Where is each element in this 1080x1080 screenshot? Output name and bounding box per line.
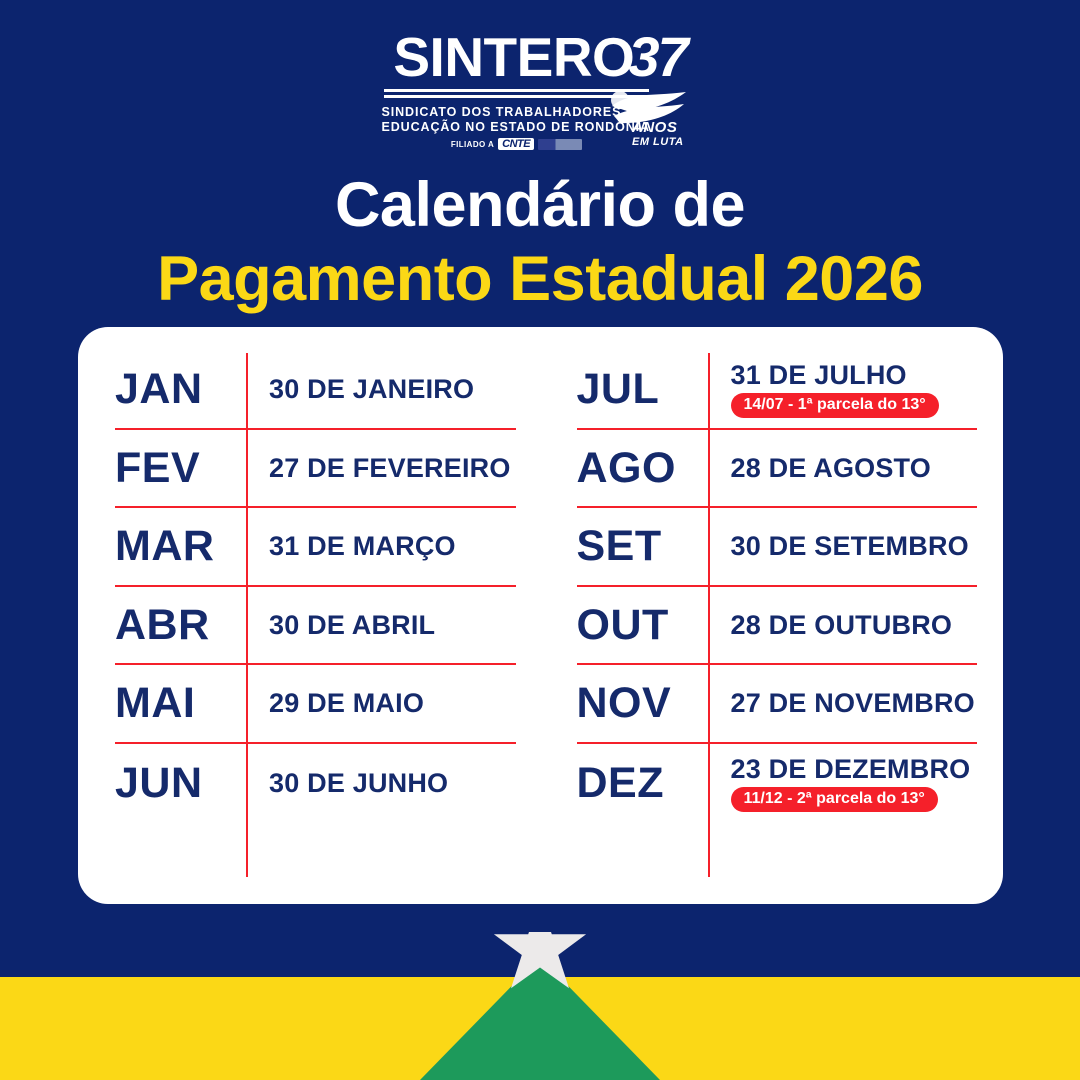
calendar-row: OUT28 DE OUTUBRO (577, 587, 978, 666)
logo-rules (384, 89, 649, 101)
month-detail: 31 DE JULHO14/07 - 1ª parcela do 13° (709, 360, 978, 418)
month-abbreviation: DEZ (577, 760, 709, 806)
calendar-row: SET30 DE SETEMBRO (577, 508, 978, 587)
calendar-row: AGO28 DE AGOSTO (577, 430, 978, 509)
calendar-card: JAN30 DE JANEIROFEV27 DE FEVEREIROMAR31 … (78, 327, 1003, 904)
logo-anniversary-label: ANOS EM LUTA (632, 122, 684, 148)
calendar-column-right: JUL31 DE JULHO14/07 - 1ª parcela do 13°A… (541, 327, 1004, 904)
calendar-row: FEV27 DE FEVEREIRO (115, 430, 516, 509)
month-detail: 23 DE DEZEMBRO11/12 - 2ª parcela do 13° (709, 754, 978, 812)
calendar-row: JUN30 DE JUNHO (115, 744, 516, 823)
sintero-logo: SINTERO 37 ANOS EM LUTA SINDICATO DOS TR… (0, 30, 1080, 150)
payment-date: 31 DE MARÇO (269, 531, 516, 561)
title-line-2: Pagamento Estadual 2026 (0, 242, 1080, 316)
payment-date: 30 DE SETEMBRO (731, 531, 978, 561)
logo-anos-line1: ANOS (632, 122, 684, 134)
logo-anos-line2: EM LUTA (632, 136, 684, 148)
poster-canvas: SINTERO 37 ANOS EM LUTA SINDICATO DOS TR… (0, 0, 1080, 1080)
month-abbreviation: JUL (577, 366, 709, 412)
calendar-row: MAR31 DE MARÇO (115, 508, 516, 587)
payment-date: 30 DE JANEIRO (269, 374, 516, 404)
logo-subtitle: SINDICATO DOS TRABALHADORES EM EDUCAÇÃO … (382, 105, 652, 134)
payment-date: 30 DE JUNHO (269, 768, 516, 798)
month-abbreviation: MAR (115, 523, 247, 569)
logo-affiliation: FILIADO A CNTE (382, 138, 652, 150)
payment-date: 28 DE AGOSTO (731, 453, 978, 483)
month-detail: 29 DE MAIO (247, 688, 516, 718)
month-detail: 30 DE JUNHO (247, 768, 516, 798)
calendar-row: JAN30 DE JANEIRO (115, 351, 516, 430)
payment-date: 29 DE MAIO (269, 688, 516, 718)
title-line-1: Calendário de (0, 168, 1080, 242)
month-detail: 31 DE MARÇO (247, 531, 516, 561)
payment-date: 27 DE FEVEREIRO (269, 453, 516, 483)
calendar-row: DEZ23 DE DEZEMBRO11/12 - 2ª parcela do 1… (577, 744, 978, 823)
calendar-row: NOV27 DE NOVEMBRO (577, 665, 978, 744)
month-abbreviation: FEV (115, 445, 247, 491)
installment-badge: 14/07 - 1ª parcela do 13° (731, 393, 939, 418)
logo-wordmark-row: SINTERO 37 (393, 30, 686, 87)
cnte-logo: CNTE (498, 138, 534, 150)
month-abbreviation: NOV (577, 680, 709, 726)
calendar-row: JUL31 DE JULHO14/07 - 1ª parcela do 13° (577, 351, 978, 430)
calendar-column-left: JAN30 DE JANEIROFEV27 DE FEVEREIROMAR31 … (78, 327, 541, 904)
affiliation-label: FILIADO A (451, 140, 494, 149)
payment-date: 23 DE DEZEMBRO (731, 754, 978, 784)
month-detail: 30 DE ABRIL (247, 610, 516, 640)
logo-wordmark: SINTERO (393, 30, 634, 84)
logo-subtitle-line1: SINDICATO DOS TRABALHADORES EM (382, 105, 652, 120)
logo-anniversary-number: 37 (628, 30, 686, 84)
month-abbreviation: OUT (577, 602, 709, 648)
logo-rule-bottom (384, 95, 649, 98)
month-abbreviation: AGO (577, 445, 709, 491)
logo-rule-top (384, 89, 649, 92)
month-detail: 27 DE NOVEMBRO (709, 688, 978, 718)
cnte-bar-icon (538, 139, 582, 150)
month-detail: 28 DE AGOSTO (709, 453, 978, 483)
flag-star-icon (490, 932, 590, 996)
logo-subtitle-line2: EDUCAÇÃO NO ESTADO DE RONDÔNIA (382, 120, 652, 135)
payment-date: 28 DE OUTUBRO (731, 610, 978, 640)
month-detail: 30 DE JANEIRO (247, 374, 516, 404)
page-title: Calendário de Pagamento Estadual 2026 (0, 168, 1080, 316)
installment-badge: 11/12 - 2ª parcela do 13° (731, 787, 938, 812)
payment-date: 30 DE ABRIL (269, 610, 516, 640)
month-abbreviation: MAI (115, 680, 247, 726)
calendar-row: ABR30 DE ABRIL (115, 587, 516, 666)
month-detail: 27 DE FEVEREIRO (247, 453, 516, 483)
month-abbreviation: ABR (115, 602, 247, 648)
month-abbreviation: SET (577, 523, 709, 569)
month-abbreviation: JAN (115, 366, 247, 412)
month-detail: 30 DE SETEMBRO (709, 531, 978, 561)
month-detail: 28 DE OUTUBRO (709, 610, 978, 640)
payment-date: 27 DE NOVEMBRO (731, 688, 978, 718)
payment-date: 31 DE JULHO (731, 360, 978, 390)
rondonia-flag-graphic (0, 932, 1080, 1080)
month-abbreviation: JUN (115, 760, 247, 806)
calendar-row: MAI29 DE MAIO (115, 665, 516, 744)
